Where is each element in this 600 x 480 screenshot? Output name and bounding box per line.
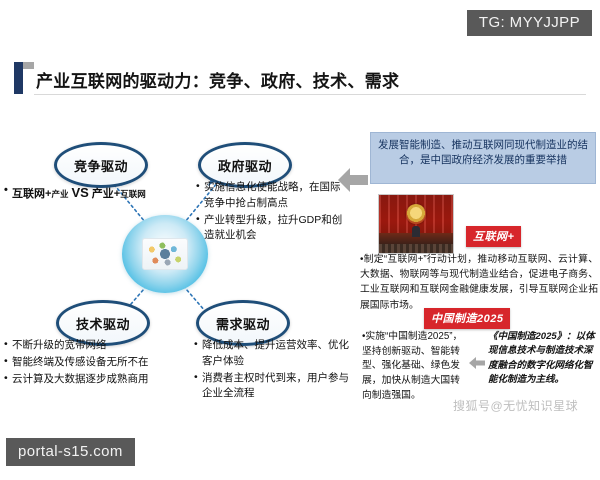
page-title: 产业互联网的驱动力：竞争、政府、技术、需求 — [36, 67, 399, 92]
list-item: 降低成本、提升运营效率、优化客户体验 — [194, 338, 350, 370]
title-divider — [34, 94, 586, 95]
hub-network-image — [142, 238, 188, 270]
speaker-figure — [412, 226, 420, 237]
made2025-definition-text: 《中国制造2025》：以体现信息技术与制造技术深度融合的数字化网络化智能化制造为… — [488, 330, 598, 387]
left-arrow-small-icon — [468, 354, 486, 372]
watermark-sohu: 搜狐号@无忧知识星球 — [453, 397, 578, 414]
watermark-top-tag: TG: MYYJJPP — [467, 10, 592, 36]
list-item: 产业转型升级，拉升GDP和创造就业机会 — [196, 213, 348, 245]
national-emblem-icon — [406, 204, 426, 224]
made2025-policy-text: •实施“中国制造2025”，坚持创新驱动、智能转型、强化基础、绿色发展，加快从制… — [362, 330, 468, 403]
title-accent-cap — [23, 62, 34, 69]
vs-right-main: 产业 — [92, 188, 114, 200]
node-technology-label: 技术驱动 — [76, 314, 130, 333]
vs-separator: VS — [68, 185, 91, 200]
left-arrow-icon — [336, 163, 370, 197]
slide-title-bar: 产业互联网的驱动力：竞争、政府、技术、需求 — [14, 62, 586, 94]
bullets-demand: 降低成本、提升运营效率、优化客户体验 消费者主权时代到来，用户参与企业全流程 — [194, 338, 350, 403]
watermark-bottom-tag: portal-s15.com — [6, 438, 135, 466]
node-competition[interactable]: 竞争驱动 — [54, 142, 148, 188]
node-competition-label: 竞争驱动 — [74, 156, 128, 175]
bullets-competition: 互联网+产业VS产业+互联网 — [4, 183, 184, 204]
policy-headline: 发展智能制造、推动互联网同现代制造业的结合，是中国政府经济发展的重要举措 — [370, 132, 596, 184]
vs-left-main: 互联网 — [12, 188, 45, 200]
vs-left-small: 产业 — [51, 189, 68, 199]
policy-panel: 发展智能制造、推动互联网同现代制造业的结合，是中国政府经济发展的重要举措 互联网… — [370, 132, 598, 417]
list-item: 实施信息化使能战略，在国际竞争中抢占制高点 — [196, 180, 348, 212]
bullets-technology: 不断升级的宽带网络 智能终端及传感设备无所不在 云计算及大数据逐步成熟商用 — [4, 338, 186, 388]
internet-plus-paragraph: •制定“互联网+”行动计划，推动移动互联网、云计算、大数据、物联网等与现代制造业… — [360, 252, 598, 313]
drivers-diagram: 竞争驱动 政府驱动 技术驱动 需求驱动 互联网+产业VS产业+互联网 实施信息化… — [0, 120, 350, 410]
list-item: 云计算及大数据逐步成熟商用 — [4, 372, 186, 388]
tag-made-in-china-2025: 中国制造2025 — [424, 308, 510, 329]
node-demand-label: 需求驱动 — [216, 314, 270, 333]
tag-internet-plus: 互联网+ — [466, 226, 521, 247]
list-item: 消费者主权时代到来，用户参与企业全流程 — [194, 371, 350, 403]
list-item: 智能终端及传感设备无所不在 — [4, 355, 186, 371]
node-government-label: 政府驱动 — [218, 156, 272, 175]
list-item: 不断升级的宽带网络 — [4, 338, 186, 354]
great-hall-photo — [378, 194, 454, 254]
bullets-government: 实施信息化使能战略，在国际竞争中抢占制高点 产业转型升级，拉升GDP和创造就业机… — [196, 180, 348, 245]
vs-right-small: 互联网 — [120, 189, 146, 199]
title-accent-bar — [14, 62, 23, 94]
